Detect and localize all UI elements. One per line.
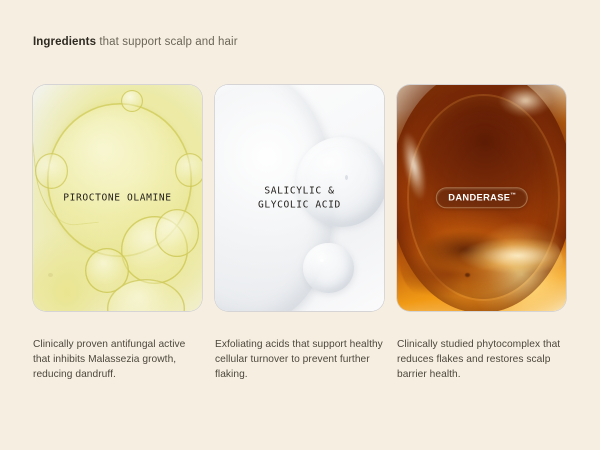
page-title-strong: Ingredients: [33, 36, 96, 48]
ingredient-caption-piroctone-olamine: Clinically proven antifungal active that…: [33, 337, 202, 383]
ingredient-label-salicylic-glycolic-acid: SALICYLIC & GLYCOLIC ACID: [215, 185, 384, 212]
ingredient-card-row: PIROCTONE OLAMINE SALICYLIC & GLYCOLIC A…: [33, 85, 567, 311]
amber-speck: [465, 273, 470, 277]
ingredients-panel: Ingredients that support scalp and hair …: [0, 0, 600, 450]
ingredient-caption-salicylic-glycolic-acid: Exfoliating acids that support healthy c…: [215, 337, 384, 383]
page-title: Ingredients that support scalp and hair: [33, 36, 238, 48]
ingredient-badge-danderase: DANDERASE™: [435, 187, 527, 208]
page-title-rest: that support scalp and hair: [96, 36, 238, 48]
ingredient-caption-row: Clinically proven antifungal active that…: [33, 337, 567, 383]
ingredient-label-piroctone-olamine: PIROCTONE OLAMINE: [33, 191, 202, 205]
gel-highlight-a: [320, 259, 324, 262]
oil-bubble-tiny-top: [121, 90, 143, 113]
trademark-symbol: ™: [510, 192, 515, 198]
ingredient-card-salicylic-glycolic-acid[interactable]: SALICYLIC & GLYCOLIC ACID: [215, 85, 384, 311]
amber-swirl-highlight: [400, 212, 562, 311]
ingredient-card-danderase[interactable]: DANDERASE™: [397, 85, 566, 311]
gel-droplet-medium: [296, 137, 384, 227]
oil-bubble-small-right: [155, 209, 199, 256]
gel-droplet-small: [303, 243, 354, 293]
ingredient-caption-danderase: Clinically studied phytocomplex that red…: [397, 337, 566, 383]
oil-droplet-speck: [48, 273, 53, 277]
oil-bubble-tiny-right: [175, 153, 202, 187]
ingredient-card-piroctone-olamine[interactable]: PIROCTONE OLAMINE: [33, 85, 202, 311]
oil-bubble-tiny-left: [35, 153, 69, 189]
ingredient-badge-label: DANDERASE: [448, 192, 510, 202]
